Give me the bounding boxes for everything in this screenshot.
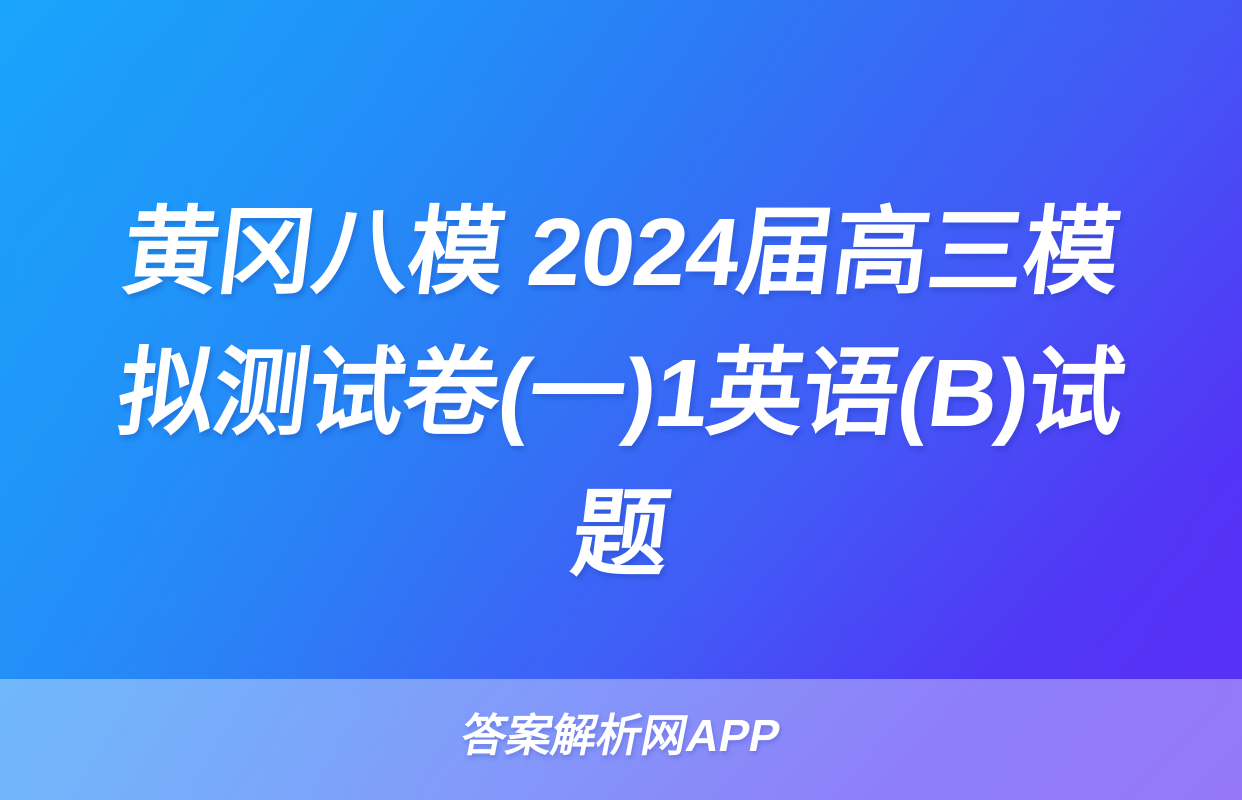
title-line-2: 拟测试卷(一)1英语(B)试 [63,323,1178,464]
title-line-3: 题 [63,464,1178,605]
title-line-1: 黄冈八模 2024届高三模 [63,182,1178,323]
watermark-band: 答案解析网APP [0,679,1242,800]
page-title: 黄冈八模 2024届高三模 拟测试卷(一)1英语(B)试 题 [0,182,1242,605]
cover-card: 黄冈八模 2024届高三模 拟测试卷(一)1英语(B)试 题 答案解析网APP [0,0,1242,800]
watermark-text: 答案解析网APP [457,711,784,761]
